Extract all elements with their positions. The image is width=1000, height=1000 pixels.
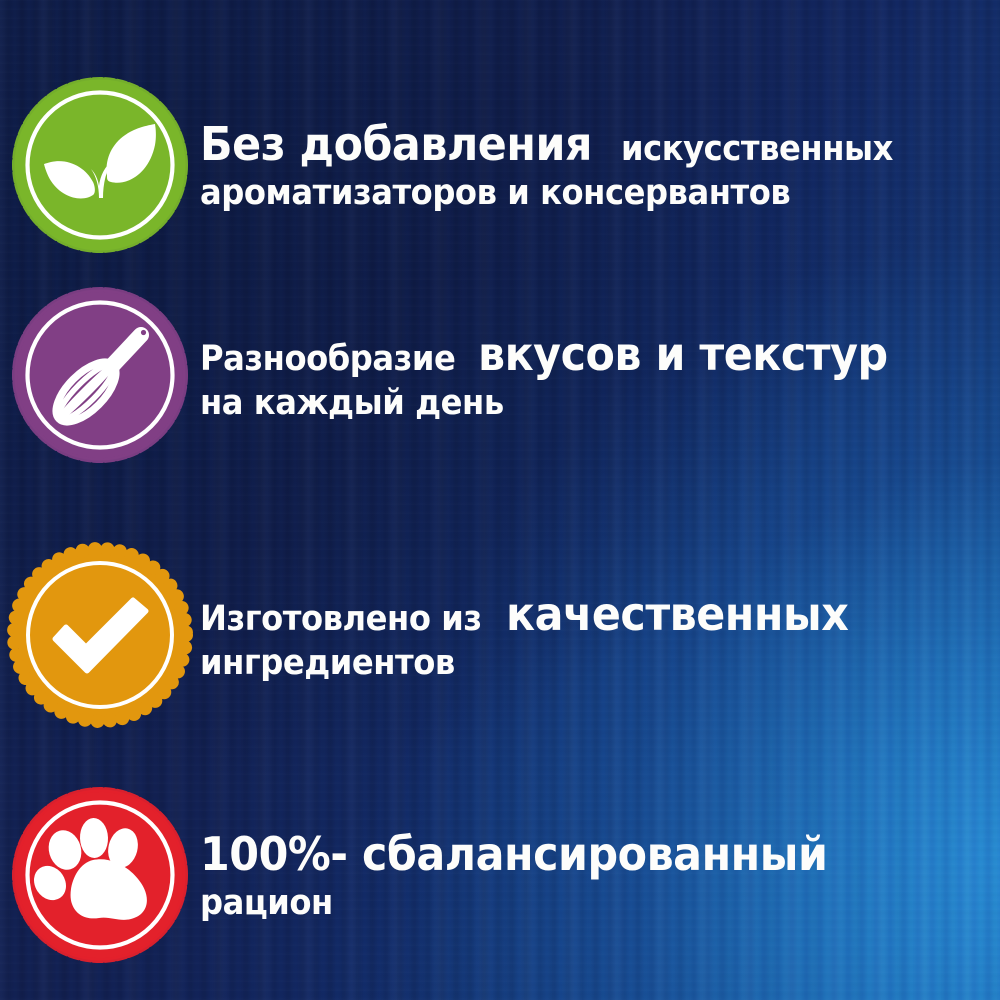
feature-emphasis: качественных [506, 587, 848, 641]
feature-row-quality-ingredients: Изготовлено из качественных ингредиентов [0, 535, 1000, 735]
feature-line-2: рацион [200, 883, 960, 923]
feature-text-variety-of-flavours: Разнообразие вкусов и текстур на каждый … [200, 327, 1000, 423]
feature-line-1: 100%- сбалансированный [200, 827, 960, 881]
feature-row-balanced-diet: 100%- сбалансированный рацион [0, 775, 1000, 975]
paw-icon [7, 782, 193, 968]
check-icon [3, 538, 197, 732]
feature-line-1: Изготовлено из качественных [200, 587, 960, 641]
feature-line-1: Разнообразие вкусов и текстур [200, 327, 960, 381]
feature-emphasis: Без добавления [200, 117, 592, 171]
badge-no-artificial-additives [0, 65, 200, 265]
feature-line-2-text: ингредиентов [200, 643, 455, 683]
feature-row-no-artificial-additives: Без добавления искусственных ароматизато… [0, 65, 1000, 265]
feature-lead: Разнообразие [200, 339, 455, 379]
feature-line-2: ингредиентов [200, 643, 960, 683]
badge-balanced-diet [0, 775, 200, 975]
feature-line-2-text: ароматизаторов и консервантов [200, 173, 790, 213]
badge-quality-ingredients [0, 535, 200, 735]
feature-line-2: ароматизаторов и консервантов [200, 173, 960, 213]
leaf-icon [7, 72, 193, 258]
feature-line-2-text: на каждый день [200, 383, 504, 423]
feature-lead: Изготовлено из [200, 599, 482, 639]
feature-emphasis: 100%- сбалансированный [200, 827, 828, 881]
feature-text-no-artificial-additives: Без добавления искусственных ароматизато… [200, 117, 1000, 213]
feature-text-quality-ingredients: Изготовлено из качественных ингредиентов [200, 587, 1000, 683]
feature-line-1: Без добавления искусственных [200, 117, 960, 171]
feature-line-2-text: рацион [200, 883, 333, 923]
feature-text-balanced-diet: 100%- сбалансированный рацион [200, 827, 1000, 923]
feature-line-2: на каждый день [200, 383, 960, 423]
whisk-icon [7, 282, 193, 468]
badge-variety-of-flavours [0, 275, 200, 475]
feature-emphasis: вкусов и текстур [478, 327, 888, 381]
feature-row-variety-of-flavours: Разнообразие вкусов и текстур на каждый … [0, 275, 1000, 475]
feature-rest: искусственных [621, 129, 893, 169]
promo-banner: Без добавления искусственных ароматизато… [0, 0, 1000, 1000]
